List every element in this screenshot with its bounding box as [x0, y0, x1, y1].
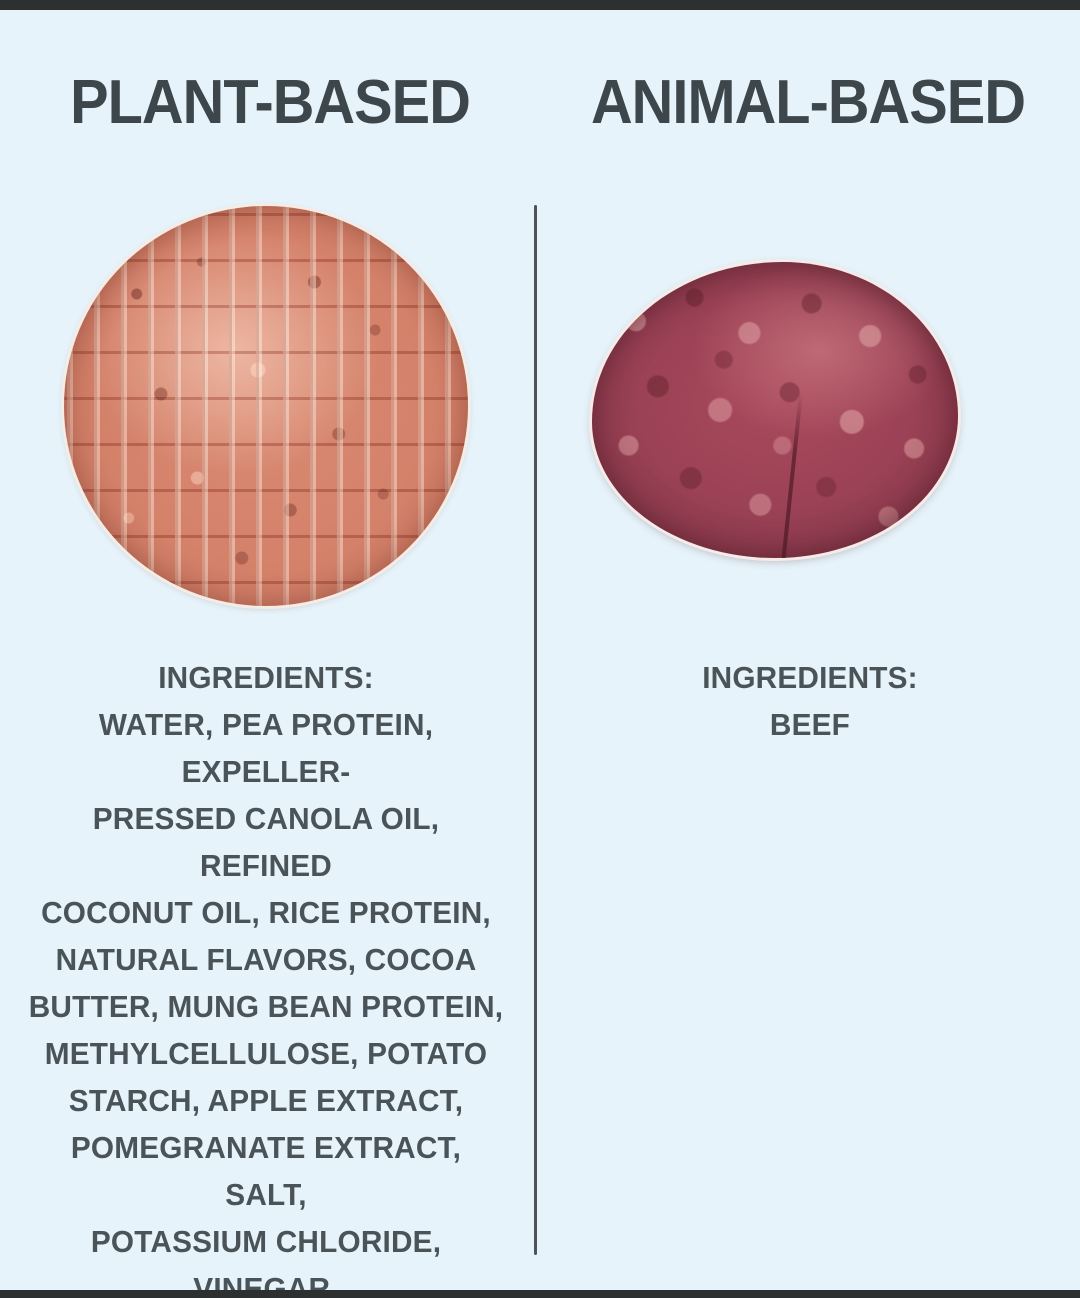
- plant-patty-edge-shading: [64, 206, 468, 606]
- plant-ingredients-line: NATURAL FLAVORS, COCOA: [26, 936, 506, 983]
- comparison-infographic: PLANT-BASED ANIMAL-BASED INGREDIENTS: WA…: [0, 0, 1080, 1298]
- column-divider: [534, 205, 537, 1255]
- plant-ingredients-line: BUTTER, MUNG BEAN PROTEIN,: [26, 983, 506, 1030]
- plant-ingredients-line: METHYLCELLULOSE, POTATO: [26, 1030, 506, 1077]
- plant-ingredients-line: WATER, PEA PROTEIN, EXPELLER-: [26, 701, 506, 795]
- letterbox-bar-bottom: [0, 1290, 1080, 1298]
- letterbox-bar-top: [0, 0, 1080, 10]
- plant-based-column-title: PLANT-BASED: [38, 72, 503, 134]
- plant-ingredients-line: COCONUT OIL, RICE PROTEIN,: [26, 889, 506, 936]
- plant-ingredients-line: POMEGRANATE EXTRACT, SALT,: [26, 1124, 506, 1218]
- plant-ingredients-line: POTASSIUM CHLORIDE, VINEGAR,: [26, 1218, 506, 1298]
- plant-ingredients-label: INGREDIENTS:: [26, 654, 506, 701]
- animal-based-ingredients-block: INGREDIENTS: BEEF: [566, 654, 1054, 748]
- plant-based-patty-photo: [64, 206, 468, 606]
- animal-ingredients-line: BEEF: [566, 701, 1054, 748]
- animal-based-patty-photo: [592, 262, 958, 558]
- plant-ingredients-line: PRESSED CANOLA OIL, REFINED: [26, 795, 506, 889]
- animal-ingredients-label: INGREDIENTS:: [566, 654, 1054, 701]
- plant-ingredients-line: STARCH, APPLE EXTRACT,: [26, 1077, 506, 1124]
- plant-based-ingredients-block: INGREDIENTS: WATER, PEA PROTEIN, EXPELLE…: [26, 654, 506, 1298]
- infographic-canvas: PLANT-BASED ANIMAL-BASED INGREDIENTS: WA…: [0, 10, 1080, 1290]
- animal-based-column-title: ANIMAL-BASED: [570, 72, 1046, 134]
